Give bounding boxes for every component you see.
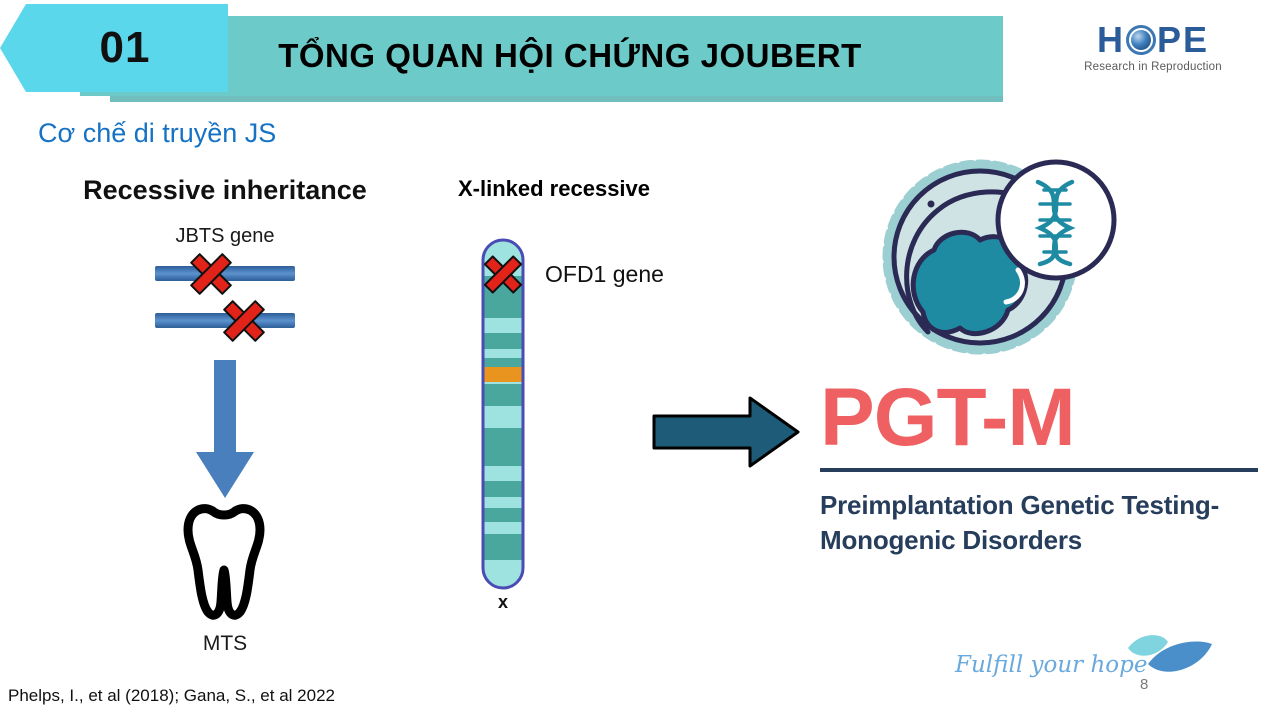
- mutation-x-icon-2: [218, 295, 270, 347]
- hope-letters-pe: PE: [1157, 19, 1209, 61]
- leaves-icon: [1118, 630, 1218, 682]
- molar-tooth-icon: [178, 500, 270, 620]
- slide: 01 TỔNG QUAN HỘI CHỨNG JOUBERT H PE Rese…: [0, 0, 1280, 720]
- pgtm-title: PGT-M: [820, 378, 1270, 458]
- page-title: TỔNG QUAN HỘI CHỨNG JOUBERT: [190, 16, 950, 96]
- embryo-dna-icon: [868, 152, 1118, 357]
- recessive-inheritance-title: Recessive inheritance: [60, 175, 390, 206]
- pgtm-subtitle-line2: Monogenic Disorders: [820, 523, 1270, 557]
- section-subtitle: Cơ chế di truyền JS: [38, 118, 276, 149]
- hope-letter-h: H: [1097, 19, 1125, 61]
- page-number: 8: [1140, 676, 1148, 693]
- mutation-x-icon-ofd1: [479, 250, 527, 298]
- section-number: 01: [78, 23, 151, 73]
- right-arrow-icon: [652, 396, 800, 468]
- x-linked-recessive-title: X-linked recessive: [458, 176, 650, 202]
- ofd1-gene-label: OFD1 gene: [545, 261, 664, 288]
- citation-text: Phelps, I., et al (2018); Gana, S., et a…: [8, 686, 335, 706]
- hope-logo: H PE Research in Reproduction: [1078, 20, 1228, 82]
- eye-icon: [1126, 25, 1156, 55]
- chromosome-x-label: x: [480, 592, 526, 613]
- hope-tagline: Research in Reproduction: [1078, 61, 1228, 73]
- pgtm-divider: [820, 468, 1258, 472]
- mts-label: MTS: [60, 632, 390, 656]
- mutation-x-icon-1: [185, 248, 237, 300]
- pgtm-logo: PGT-M Preimplantation Genetic Testing- M…: [820, 378, 1270, 557]
- jbts-gene-label: JBTS gene: [60, 225, 390, 248]
- hope-wordmark: H PE: [1078, 20, 1228, 60]
- down-arrow-icon: [192, 360, 258, 500]
- pgtm-subtitle-line1: Preimplantation Genetic Testing-: [820, 488, 1270, 522]
- pgtm-subtitle: Preimplantation Genetic Testing- Monogen…: [820, 488, 1270, 557]
